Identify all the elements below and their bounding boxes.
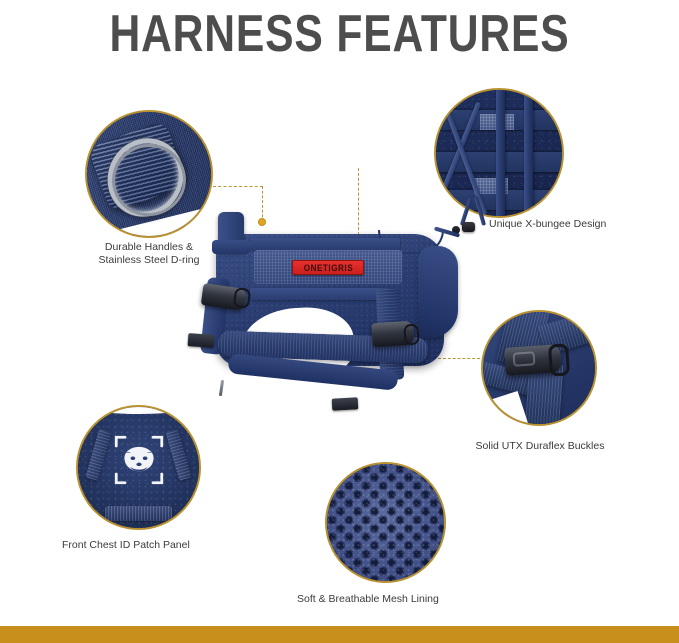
callout-caption-chest-panel: Front Chest ID Patch Panel bbox=[62, 539, 262, 552]
callout-photo-mesh-lining bbox=[325, 462, 446, 583]
photo-side-release-buckle bbox=[483, 312, 595, 424]
photo-breathable-mesh bbox=[327, 464, 444, 581]
callout-photo-chest-panel bbox=[76, 405, 201, 530]
harness-metal-pin bbox=[219, 380, 224, 396]
harness-buckle-right-arm bbox=[403, 324, 419, 346]
infographic-page: HARNESS FEATURES ONETIGRIS bbox=[0, 0, 679, 643]
callout-caption-d-ring: Durable Handles & Stainless Steel D-ring bbox=[69, 241, 229, 267]
photo-webbing-handle-d-ring bbox=[87, 112, 211, 236]
harness-molle-row-top bbox=[250, 238, 400, 250]
tiger-head-logo-icon bbox=[111, 432, 167, 488]
vertical-strap-right bbox=[524, 88, 533, 218]
chest-strap-bottom bbox=[105, 506, 173, 521]
harness-molle-row-bottom bbox=[250, 288, 390, 300]
harness-clip-bottom bbox=[332, 397, 359, 410]
callout-photo-buckles bbox=[481, 310, 597, 426]
harness-clip-left bbox=[188, 333, 215, 348]
duraflex-buckle-slot bbox=[513, 351, 536, 367]
connector-line-d-ring-horizontal bbox=[213, 186, 263, 187]
callout-caption-buckles: Solid UTX Duraflex Buckles bbox=[460, 440, 620, 453]
bottom-accent-bar bbox=[0, 626, 679, 643]
callout-photo-d-ring bbox=[85, 110, 213, 238]
photo-chest-id-panel bbox=[78, 407, 199, 528]
duraflex-buckle-arm bbox=[548, 343, 570, 376]
page-title: HARNESS FEATURES bbox=[61, 6, 618, 62]
bungee-cord-strand-b bbox=[474, 196, 486, 226]
harness-neck-section bbox=[418, 246, 458, 338]
callout-caption-x-bungee: Unique X-bungee Design bbox=[489, 218, 669, 231]
cord-lock-toggle bbox=[462, 222, 475, 232]
brand-patch-label: ONETIGRIS bbox=[303, 263, 352, 273]
brand-patch: ONETIGRIS bbox=[292, 260, 364, 275]
photo-white-corner bbox=[481, 391, 530, 426]
callout-caption-mesh-lining: Soft & Breathable Mesh Lining bbox=[297, 593, 517, 606]
mesh-grain bbox=[327, 464, 444, 581]
